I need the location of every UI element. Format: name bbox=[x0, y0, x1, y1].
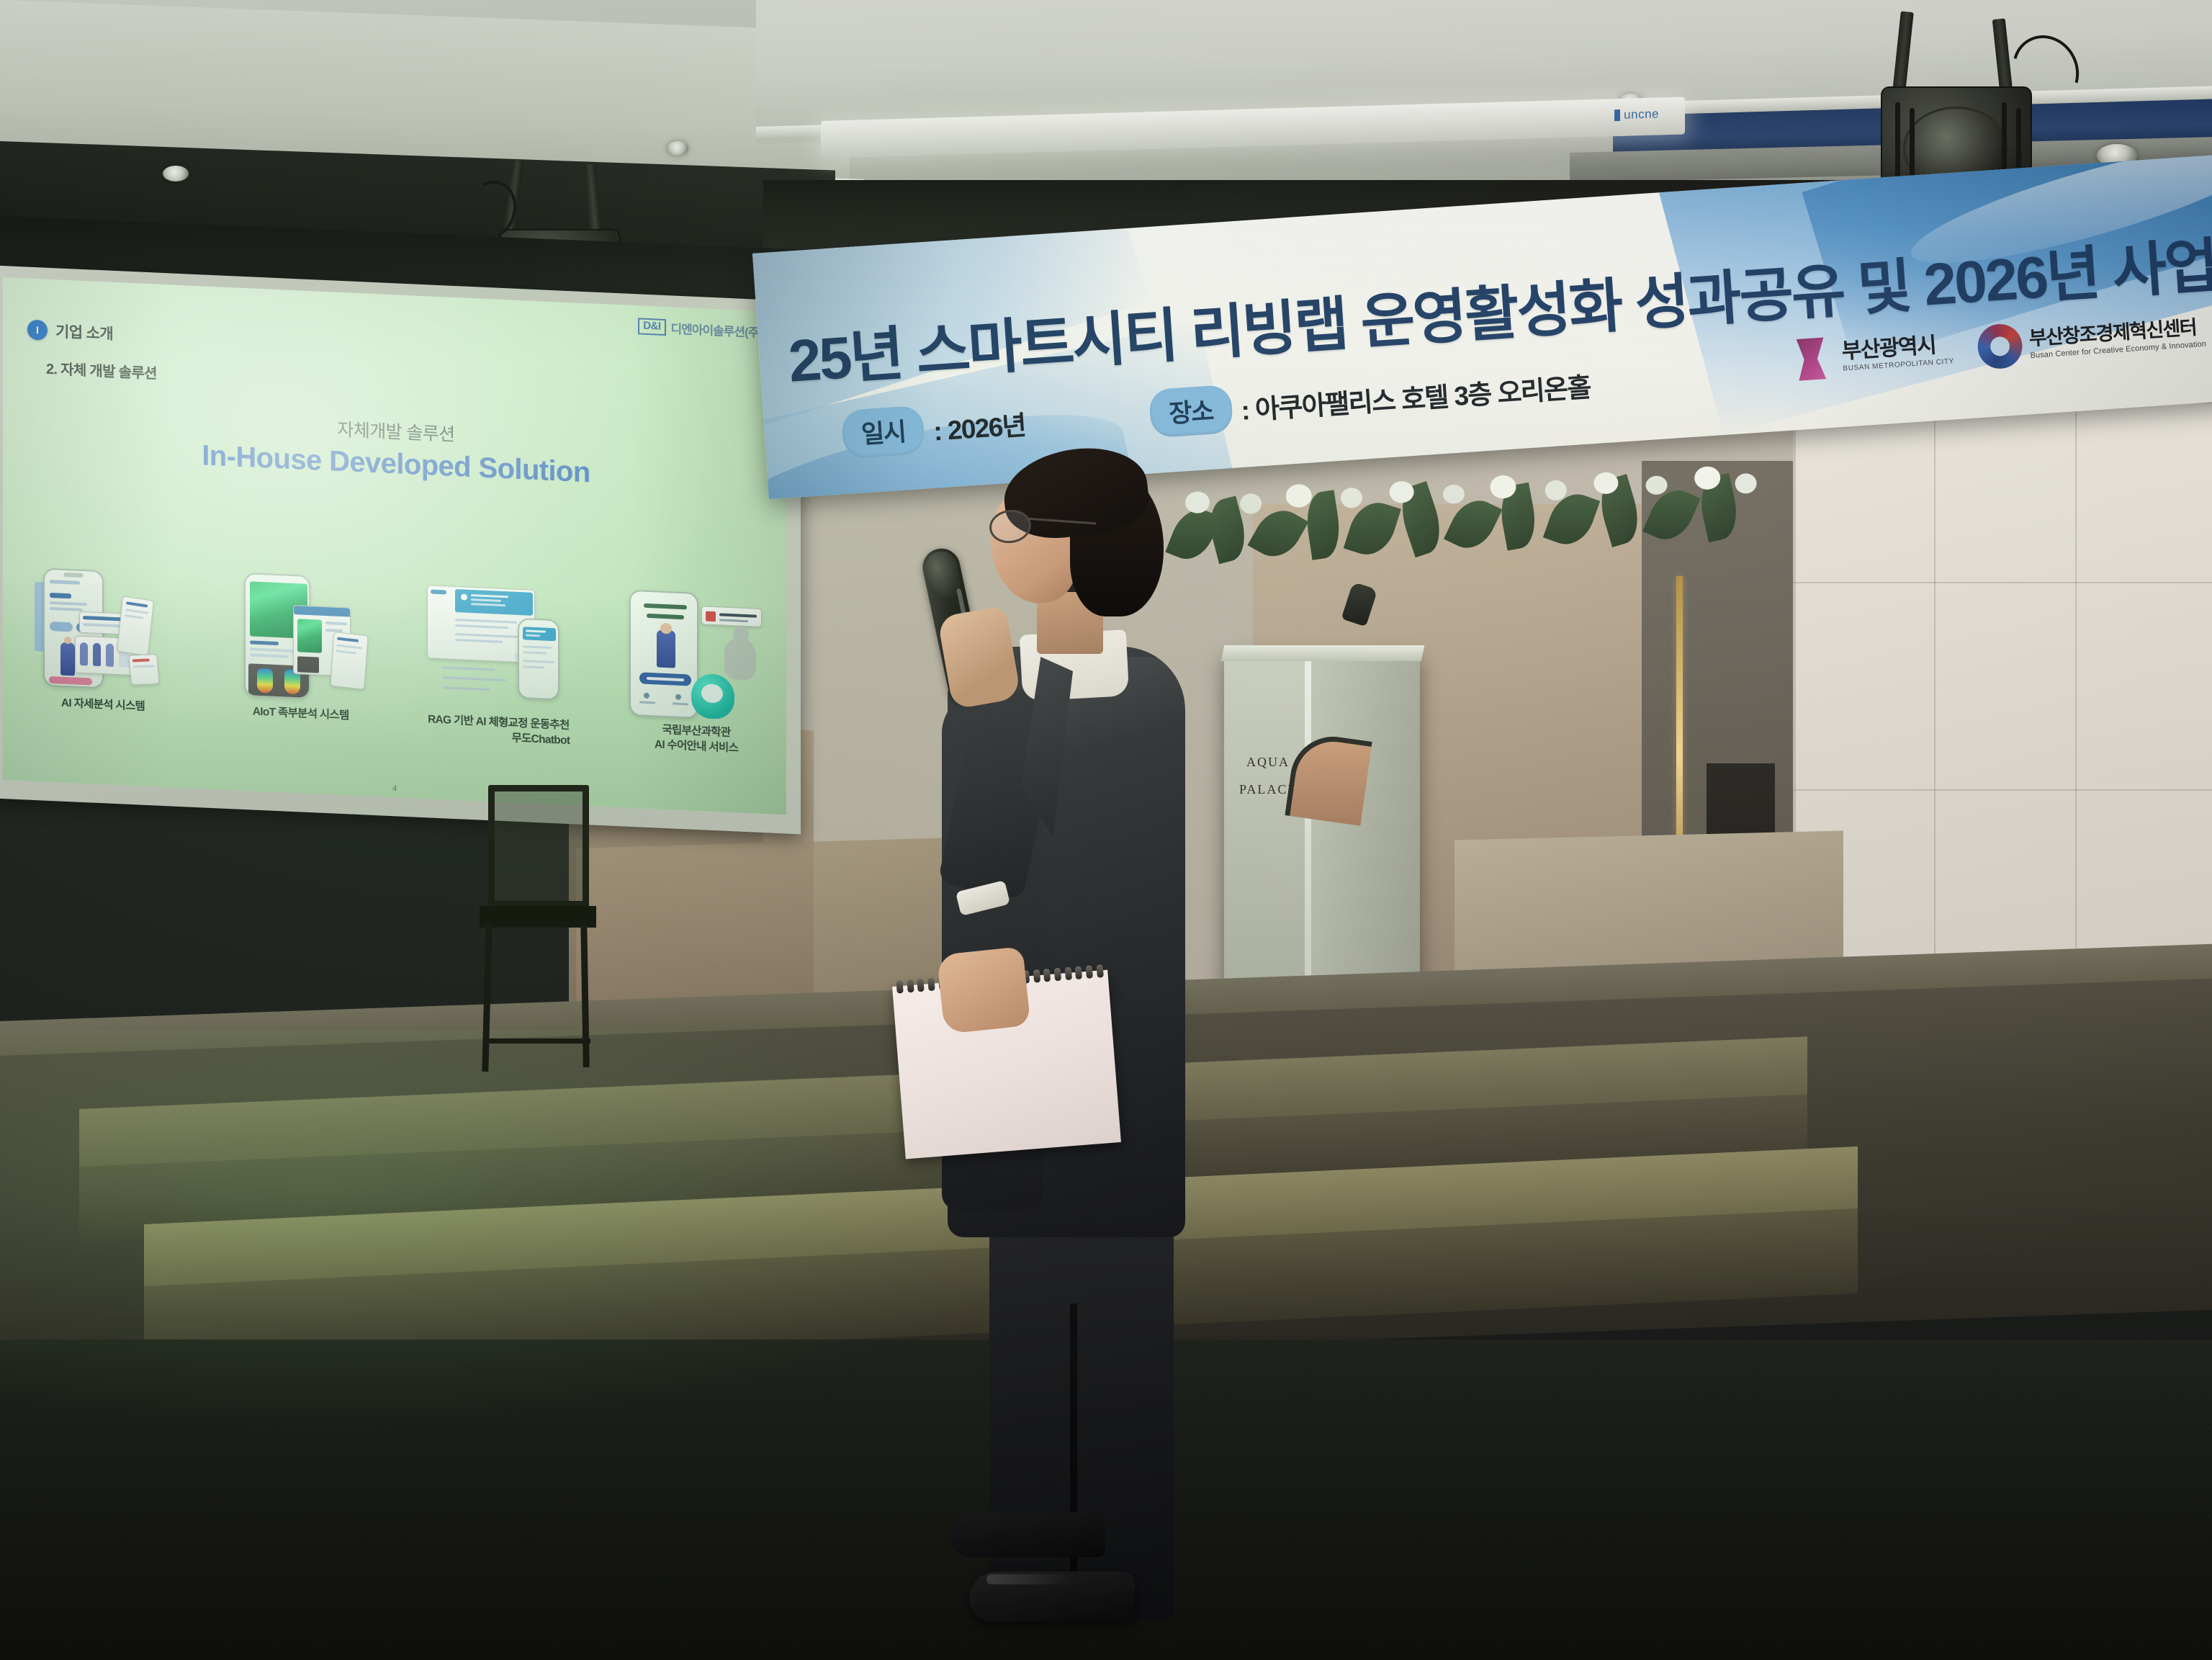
conference-photo-scene: uncne bbox=[0, 0, 2212, 1660]
podium-gooseneck-microphone bbox=[1290, 598, 1377, 691]
speaker-shoe-back bbox=[950, 1512, 1105, 1557]
slide-thumb-3 bbox=[427, 580, 571, 713]
slide-thumb-4 bbox=[624, 589, 768, 722]
chair-leg-right bbox=[580, 923, 589, 1067]
strip-light-brand-label: uncne bbox=[1614, 107, 1659, 122]
slide-caption-2: AIoT 족부분석 시스템 bbox=[225, 704, 377, 740]
phone-mockup-icon bbox=[518, 618, 559, 701]
slide-caption-3: RAG 기반 AI 체형교정 운동추천 무도Chatbot bbox=[423, 712, 574, 749]
speaker-person bbox=[929, 454, 1231, 1577]
banner-place-group: 장소 : 아쿠아팰리스 호텔 3층 오리온홀 bbox=[1148, 360, 1592, 438]
phone-mockup-icon bbox=[629, 590, 698, 719]
slide-logo-name: 디엔아이솔루션(주) bbox=[671, 318, 762, 341]
slide-thumb-2 bbox=[231, 572, 375, 704]
banner-date-value: : 2026년 bbox=[932, 403, 1026, 448]
slide-company-logo: D&I 디엔아이솔루션(주) bbox=[638, 317, 762, 341]
slide-caption-1: AI 자세분석 시스템 bbox=[27, 695, 179, 732]
slide-section-number: I bbox=[27, 320, 48, 341]
slide-content: D&I 디엔아이솔루션(주) I 기업 소개 2. 자체 개발 솔루션 자체개발… bbox=[3, 277, 786, 815]
banner-place-pill: 장소 bbox=[1148, 385, 1233, 438]
slide-caption-4: 국립부산과학관 AI 수어안내 서비스 bbox=[621, 721, 772, 758]
slide-thumbnail-row bbox=[35, 563, 768, 722]
banner-place-value: : 아쿠아팰리스 호텔 3층 오리온홀 bbox=[1240, 365, 1592, 428]
projection-screen: D&I 디엔아이솔루션(주) I 기업 소개 2. 자체 개발 솔루션 자체개발… bbox=[0, 265, 801, 834]
speaker-hand-holding-notepad bbox=[937, 946, 1031, 1034]
slide-page-number: 4 bbox=[392, 784, 397, 793]
ceiling-spot-icon bbox=[163, 166, 189, 181]
projected-slide: D&I 디엔아이솔루션(주) I 기업 소개 2. 자체 개발 솔루션 자체개발… bbox=[3, 277, 786, 815]
slide-section-title: 기업 소개 bbox=[55, 320, 113, 344]
banner-date-pill: 일시 bbox=[841, 405, 926, 459]
ceiling-spot-icon bbox=[667, 141, 688, 156]
shoe-highlight bbox=[986, 1574, 1073, 1584]
slide-logo-mark: D&I bbox=[638, 318, 665, 336]
slide-thumb-1 bbox=[35, 563, 179, 696]
bcce-logo-icon bbox=[1977, 323, 2024, 370]
speaker-glasses-icon bbox=[989, 510, 1076, 544]
chair-backrest bbox=[488, 785, 589, 907]
speaker-trousers bbox=[989, 1217, 1174, 1620]
chair-rung bbox=[484, 1038, 590, 1044]
stage-chair bbox=[475, 785, 601, 1073]
chair-leg-left bbox=[482, 923, 492, 1072]
logo-busan-metropolitan-city: 부산광역시 BUSAN METROPOLITAN CITY bbox=[1797, 328, 1955, 380]
busan-city-logo-icon bbox=[1797, 336, 1837, 380]
speaker-trouser-seam bbox=[1070, 1304, 1077, 1606]
chair-seat bbox=[480, 906, 596, 928]
